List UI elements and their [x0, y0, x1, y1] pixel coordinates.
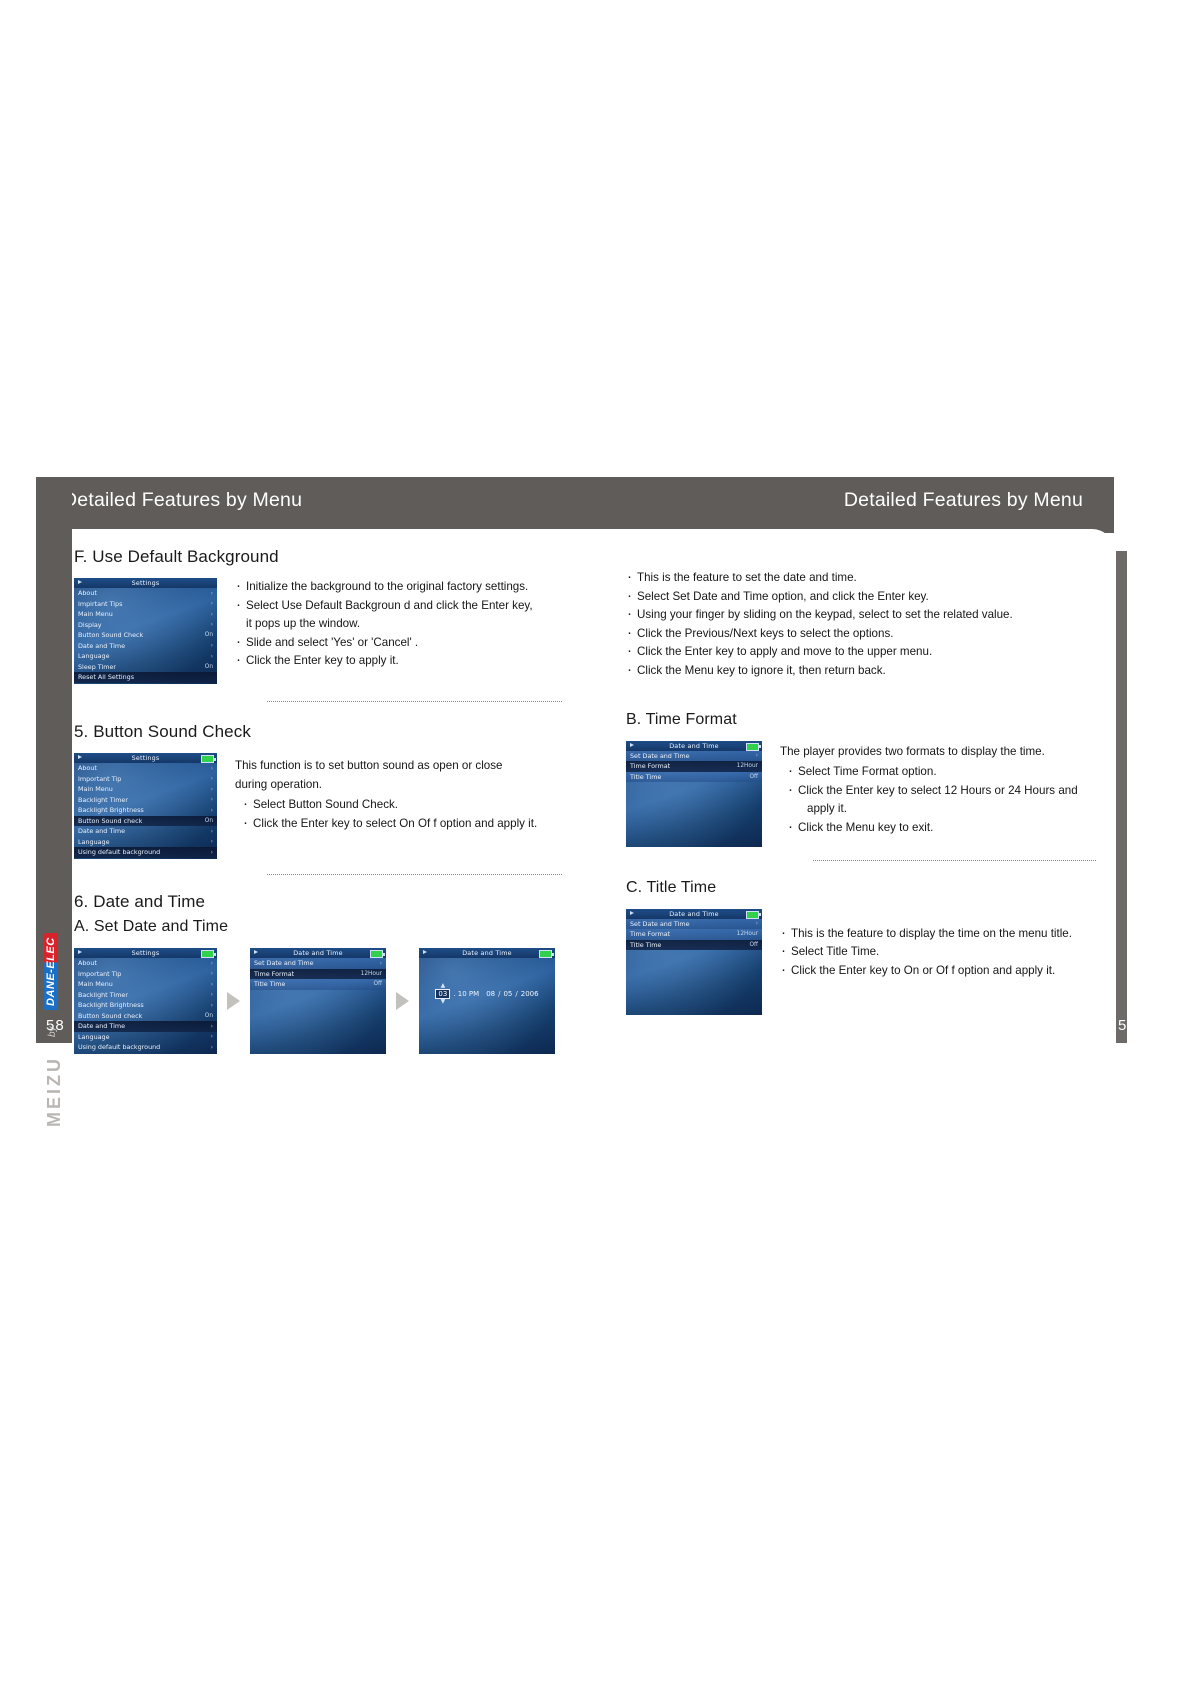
lcd-row: Language›: [74, 1032, 217, 1043]
day-value: 05: [503, 990, 512, 998]
lcd-row: Impirtant Tips›: [74, 599, 217, 610]
lcd-row-label: Date and Time: [78, 1022, 125, 1030]
bullet-item: Initialize the background to the origina…: [235, 578, 533, 597]
minute-ampm-value: . 10 PM: [453, 990, 479, 998]
play-icon: [630, 911, 634, 915]
lcd-row: Date and Time›: [74, 641, 217, 652]
left-column: F. Use Default Background Settings About…: [74, 547, 564, 1054]
lcd-screen-title-time: Date and Time Set Date and Time› Time Fo…: [626, 909, 762, 1015]
lcd-row-label: Button Sound check: [78, 1012, 142, 1020]
lcd-screen-date-and-time: Date and Time Set Date and Time› Time Fo…: [250, 948, 386, 1054]
flow-arrow-icon: [396, 992, 409, 1010]
lcd-row: Backlight Timer›: [74, 990, 217, 1001]
section-heading-f: F. Use Default Background: [74, 547, 564, 567]
section-heading-6a: A. Set Date and Time: [74, 918, 564, 936]
month-value: 08: [486, 990, 495, 998]
play-icon: [254, 950, 258, 954]
bullet-item: Using your finger by sliding on the keyp…: [626, 606, 1096, 625]
lcd-titlebar: Date and Time: [419, 948, 555, 958]
hour-value: 03: [435, 989, 450, 999]
lcd-row-label: Date and Time: [78, 642, 125, 650]
lcd-titlebar: Settings: [74, 578, 217, 588]
lcd-row-value: ›: [211, 786, 213, 793]
battery-icon: [746, 911, 759, 919]
lcd-row: Backlight Brightness›: [74, 1000, 217, 1011]
bullet-item: Select Time Format option.: [787, 763, 1078, 782]
bullet-item: Select Button Sound Check.: [242, 796, 537, 815]
section-5-paragraph-1: This function is to set button sound as …: [235, 757, 537, 776]
lcd-row-value: On: [205, 664, 213, 670]
section-heading-5: 5. Button Sound Check: [74, 722, 564, 742]
intro-bullets: This is the feature to set the date and …: [626, 569, 1096, 681]
lcd-row-label: Backlight Brightness: [78, 1001, 144, 1009]
page-edge-shadow: [1116, 551, 1127, 1043]
lcd-row-label: About: [78, 589, 97, 597]
bullet-item: Click the Enter key to select On Of f op…: [242, 815, 537, 834]
section-divider: [267, 701, 562, 702]
lcd-title: Date and Time: [462, 949, 512, 957]
brand-dane-elec-logo: DANE-ELEC: [44, 933, 58, 1010]
page-spine: DANE-ELEC by MEIZU 58: [36, 477, 72, 1043]
section-b-paragraph: The player provides two formats to displ…: [780, 743, 1078, 762]
lcd-screen-settings-6: Settings About› Important Tip› Main Menu…: [74, 948, 217, 1054]
lcd-row-value: 12Hour: [737, 931, 758, 937]
bullet-item: Select Title Time.: [780, 943, 1072, 962]
lcd-row-value: ›: [211, 653, 213, 660]
battery-icon: [370, 950, 383, 958]
lcd-row-value: ›: [211, 1002, 213, 1009]
lcd-row-label: Title Time: [630, 773, 661, 781]
lcd-row-label: Language: [78, 838, 110, 846]
lcd-row: Display›: [74, 620, 217, 631]
lcd-row-label: Set Date and Time: [630, 920, 690, 928]
play-icon: [630, 743, 634, 747]
lcd-row: Backlight Timer›: [74, 795, 217, 806]
bullet-item-continued: it pops up the window.: [235, 615, 533, 634]
lcd-row-value: ›: [211, 765, 213, 772]
section-f-body: Settings About› Impirtant Tips› Main Men…: [74, 578, 564, 684]
header-title-left: Detailed Features by Menu: [63, 489, 302, 512]
lcd-row-label: Title Time: [630, 941, 661, 949]
lcd-row: Using default background›: [74, 1042, 217, 1053]
lcd-row-highlighted: Set Date and Time›: [626, 751, 762, 762]
section-heading-6: 6. Date and Time: [74, 892, 564, 912]
bullet-item: Select Use Default Backgroun d and click…: [235, 597, 533, 616]
section-5-bullets: Select Button Sound Check. Click the Ent…: [235, 796, 537, 833]
lcd-row-value: ›: [211, 807, 213, 814]
lcd-row: About›: [74, 958, 217, 969]
lcd-row-selected: Time Format12Hour: [250, 969, 386, 980]
manual-page: Detailed Features by Menu Detailed Featu…: [36, 477, 1114, 1043]
lcd-row: Important Tip›: [74, 969, 217, 980]
lcd-row-label: Important Tip: [78, 775, 121, 783]
lcd-row-label: Backlight Brightness: [78, 806, 144, 814]
lcd-row-label: Reset All Settings: [78, 673, 134, 681]
section-heading-b: B. Time Format: [626, 711, 1096, 729]
lcd-row-label: Button Sound check: [78, 817, 142, 825]
lcd-row: Button Sound checkOn: [74, 1011, 217, 1022]
section-f-bullets: Initialize the background to the origina…: [235, 578, 533, 671]
lcd-row-selected: Reset All Settings: [74, 672, 217, 683]
lcd-row-value: On: [205, 818, 213, 824]
lcd-row-highlighted: Set Date and Time›: [250, 958, 386, 969]
bullet-item: Slide and select 'Yes' or 'Cancel' .: [235, 634, 533, 653]
lcd-screen-settings-f: Settings About› Impirtant Tips› Main Men…: [74, 578, 217, 684]
bullet-item: This is the feature to display the time …: [780, 925, 1072, 944]
lcd-row-value: ›: [380, 960, 382, 967]
lcd-titlebar: Date and Time: [626, 741, 762, 751]
lcd-row-value: ›: [211, 991, 213, 998]
battery-icon: [539, 950, 552, 958]
brand-meizu-logo: MEIZU: [44, 1056, 65, 1127]
bullet-item: This is the feature to set the date and …: [626, 569, 1096, 588]
lcd-row-highlighted: Title TimeOff: [250, 979, 386, 990]
lcd-row-label: Main Menu: [78, 610, 113, 618]
battery-icon: [201, 755, 214, 763]
lcd-row: About›: [74, 763, 217, 774]
lcd-row-value: On: [205, 632, 213, 638]
lcd-row-value: ›: [211, 621, 213, 628]
lcd-row-value: ›: [211, 600, 213, 607]
lcd-title: Settings: [132, 949, 160, 957]
lcd-row-value: ›: [211, 838, 213, 845]
lcd-row-selected: Time Format12Hour: [626, 761, 762, 772]
bullet-item: Click the Menu key to ignore it, then re…: [626, 662, 1096, 681]
page-number-right: 59: [1118, 1017, 1137, 1034]
lcd-row-label: About: [78, 959, 97, 967]
lcd-row-label: About: [78, 764, 97, 772]
page-header-band: Detailed Features by Menu Detailed Featu…: [36, 477, 1114, 533]
lcd-titlebar: Date and Time: [250, 948, 386, 958]
bullet-item: Click the Previous/Next keys to select t…: [626, 625, 1096, 644]
lcd-title: Date and Time: [669, 742, 719, 750]
bullet-item: Click the Enter key to On or Of f option…: [780, 962, 1072, 981]
lcd-row-value: ›: [211, 960, 213, 967]
section-5-text: This function is to set button sound as …: [235, 753, 537, 833]
caret-down-icon: ▼: [441, 999, 446, 1005]
lcd-row-label: Important Tip: [78, 970, 121, 978]
year-value: 2006: [521, 990, 539, 998]
play-icon: [78, 580, 82, 584]
lcd-row-label: Display: [78, 621, 102, 629]
lcd-row-label: Date and Time: [78, 827, 125, 835]
section-c-body: Date and Time Set Date and Time› Time Fo…: [626, 909, 1096, 1015]
lcd-row-label: Set Date and Time: [630, 752, 690, 760]
battery-icon: [201, 950, 214, 958]
lcd-row-value: ›: [756, 920, 758, 927]
lcd-row-value: 12Hour: [361, 971, 382, 977]
lcd-titlebar: Date and Time: [626, 909, 762, 919]
lcd-row: Backlight Brightness›: [74, 805, 217, 816]
lcd-row: Main Menu›: [74, 784, 217, 795]
lcd-row-value: ›: [211, 775, 213, 782]
section-heading-c: C. Title Time: [626, 879, 1096, 897]
page-number-left: 58: [46, 1017, 65, 1034]
lcd-row-label: Main Menu: [78, 980, 113, 988]
flow-arrow-icon: [227, 992, 240, 1010]
play-icon: [423, 950, 427, 954]
lcd-screen-date-editor: Date and Time ▲ 03 ▼ . 10 PM 08 / 05 / 2…: [419, 948, 555, 1054]
bullet-item: Click the Enter key to apply it.: [235, 652, 533, 671]
lcd-row: Important Tip›: [74, 774, 217, 785]
lcd-title: Date and Time: [669, 910, 719, 918]
bullet-item: Click the Enter key to select 12 Hours o…: [787, 782, 1078, 801]
lcd-row-value: On: [205, 1013, 213, 1019]
section-divider: [813, 860, 1096, 861]
lcd-row-value: ›: [211, 611, 213, 618]
lcd-screen-settings-5: Settings About› Important Tip› Main Menu…: [74, 753, 217, 859]
lcd-row-highlighted: Title TimeOff: [626, 772, 762, 783]
lcd-row-value: 12Hour: [737, 763, 758, 769]
lcd-row: Main Menu›: [74, 979, 217, 990]
lcd-row-label: Backlight Timer: [78, 991, 128, 999]
lcd-row-value: Off: [749, 942, 758, 948]
lcd-row-selected: Date and Time›: [74, 1021, 217, 1032]
play-icon: [78, 755, 82, 759]
lcd-row: Language›: [74, 837, 217, 848]
lcd-row-value: ›: [211, 642, 213, 649]
lcd-row: Language›: [74, 651, 217, 662]
date-separator: /: [515, 990, 517, 998]
lcd-row-value: Off: [749, 774, 758, 780]
lcd-row-value: ›: [211, 828, 213, 835]
lcd-row-label: Set Date and Time: [254, 959, 314, 967]
lcd-row-value: ›: [211, 1023, 213, 1030]
lcd-row-label: Using default background: [78, 848, 160, 856]
lcd-row: About›: [74, 588, 217, 599]
lcd-screen-time-format: Date and Time Set Date and Time› Time Fo…: [626, 741, 762, 847]
right-column: This is the feature to set the date and …: [626, 547, 1096, 1015]
lcd-row-label: Using default background: [78, 1043, 160, 1051]
lcd-row-value: ›: [211, 1033, 213, 1040]
lcd-row-value: ›: [211, 849, 213, 856]
lcd-row-value: ›: [211, 970, 213, 977]
play-icon: [78, 950, 82, 954]
section-b-text: The player provides two formats to displ…: [780, 741, 1078, 838]
lcd-row-value: Off: [373, 981, 382, 987]
lcd-row-selected: Using default background›: [74, 847, 217, 858]
bullet-item: Click the Enter key to apply and move to…: [626, 643, 1096, 662]
lcd-row: Date and Time›: [74, 826, 217, 837]
lcd-row-label: Time Format: [630, 930, 670, 938]
section-6-screens: Settings About› Important Tip› Main Menu…: [74, 948, 564, 1054]
lcd-row-label: Main Menu: [78, 785, 113, 793]
bullet-item: Click the Menu key to exit.: [787, 819, 1078, 838]
lcd-row-highlighted: Time Format12Hour: [626, 929, 762, 940]
lcd-row-value: ›: [756, 752, 758, 759]
hour-stepper[interactable]: ▲ 03 ▼: [435, 983, 450, 1005]
lcd-title: Date and Time: [293, 949, 343, 957]
header-title-right: Detailed Features by Menu: [844, 489, 1083, 512]
lcd-row: Sleep TimerOn: [74, 662, 217, 673]
lcd-title: Settings: [132, 579, 160, 587]
lcd-row-selected: Button Sound checkOn: [74, 816, 217, 827]
lcd-row-label: Sleep Timer: [78, 663, 116, 671]
lcd-row-label: Button Sound Check: [78, 631, 143, 639]
lcd-titlebar: Settings: [74, 948, 217, 958]
lcd-row-label: Title Time: [254, 980, 285, 988]
lcd-row-label: Backlight Timer: [78, 796, 128, 804]
date-editor-fields: ▲ 03 ▼ . 10 PM 08 / 05 / 2006: [419, 958, 555, 1021]
lcd-row-value: ›: [211, 590, 213, 597]
lcd-row: Main Menu›: [74, 609, 217, 620]
section-5-paragraph-2: during operation.: [235, 776, 537, 795]
lcd-title: Settings: [132, 754, 160, 762]
date-separator: /: [498, 990, 500, 998]
lcd-row-label: Language: [78, 652, 110, 660]
lcd-row-value: ›: [211, 796, 213, 803]
lcd-row-label: Language: [78, 1033, 110, 1041]
lcd-titlebar: Settings: [74, 753, 217, 763]
lcd-row-value: ›: [211, 1044, 213, 1051]
lcd-row-label: Time Format: [630, 762, 670, 770]
section-c-bullets: This is the feature to display the time …: [780, 909, 1072, 981]
section-b-bullets: Select Time Format option. Click the Ent…: [780, 763, 1078, 837]
section-divider: [267, 874, 562, 875]
bullet-item-continued: apply it.: [787, 800, 1078, 819]
lcd-row-label: Impirtant Tips: [78, 600, 122, 608]
section-b-body: Date and Time Set Date and Time› Time Fo…: [626, 741, 1096, 847]
bullet-item: Select Set Date and Time option, and cli…: [626, 588, 1096, 607]
lcd-row-label: Time Format: [254, 970, 294, 978]
lcd-row-highlighted: Set Date and Time›: [626, 919, 762, 930]
battery-icon: [746, 743, 759, 751]
section-5-body: Settings About› Important Tip› Main Menu…: [74, 753, 564, 859]
lcd-row: Button Sound CheckOn: [74, 630, 217, 641]
lcd-row-selected: Title TimeOff: [626, 940, 762, 951]
lcd-row-value: ›: [211, 981, 213, 988]
